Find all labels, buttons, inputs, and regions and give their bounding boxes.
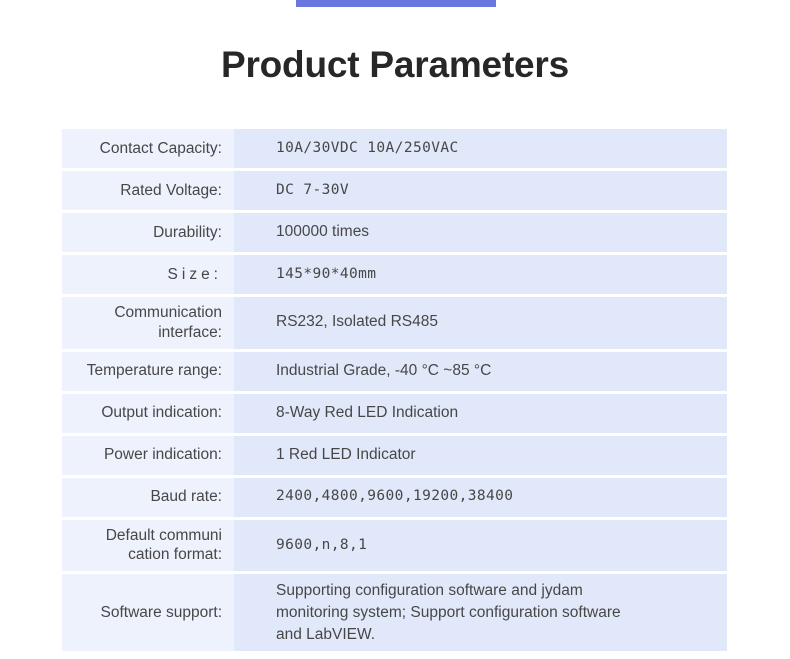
table-row: Default communi cation format: 9600,n,8,… bbox=[62, 520, 727, 572]
row-label: Default communi cation format: bbox=[62, 520, 234, 572]
table-row: Power indication: 1 Red LED Indicator bbox=[62, 436, 727, 475]
table-row: Rated Voltage: DC 7-30V bbox=[62, 171, 727, 210]
row-label: Power indication: bbox=[62, 436, 234, 475]
row-value: DC 7-30V bbox=[234, 171, 727, 210]
row-value: 145*90*40mm bbox=[234, 255, 727, 294]
table-row: Contact Capacity: 10A/30VDC 10A/250VAC bbox=[62, 129, 727, 168]
row-value: 9600,n,8,1 bbox=[234, 520, 727, 572]
row-value: RS232, Isolated RS485 bbox=[234, 297, 727, 349]
row-value: 1 Red LED Indicator bbox=[234, 436, 727, 475]
row-label: Software support: bbox=[62, 574, 234, 651]
table-row: Output indication: 8-Way Red LED Indicat… bbox=[62, 394, 727, 433]
row-label: Output indication: bbox=[62, 394, 234, 433]
row-label: Contact Capacity: bbox=[62, 129, 234, 168]
page-title: Product Parameters bbox=[0, 7, 790, 85]
top-accent-bar bbox=[296, 0, 496, 7]
row-label: Communication interface: bbox=[62, 297, 234, 349]
table-row: Temperature range: Industrial Grade, -40… bbox=[62, 352, 727, 391]
accent-bar-container bbox=[0, 0, 790, 7]
row-value: 10A/30VDC 10A/250VAC bbox=[234, 129, 727, 168]
row-label: Durability: bbox=[62, 213, 234, 252]
table-row: Software support: Supporting configurati… bbox=[62, 574, 727, 651]
table-row: Size: 145*90*40mm bbox=[62, 255, 727, 294]
row-value: Industrial Grade, -40 °C ~85 °C bbox=[234, 352, 727, 391]
row-value: Supporting configuration software and jy… bbox=[234, 574, 727, 651]
row-value: 100000 times bbox=[234, 213, 727, 252]
table-row: Baud rate: 2400,4800,9600,19200,38400 bbox=[62, 478, 727, 517]
row-label: Size: bbox=[62, 255, 234, 294]
table-row: Communication interface: RS232, Isolated… bbox=[62, 297, 727, 349]
row-label: Temperature range: bbox=[62, 352, 234, 391]
product-parameters-table: Contact Capacity: 10A/30VDC 10A/250VAC R… bbox=[62, 129, 727, 654]
row-value: 8-Way Red LED Indication bbox=[234, 394, 727, 433]
row-label: Baud rate: bbox=[62, 478, 234, 517]
table-row: Durability: 100000 times bbox=[62, 213, 727, 252]
row-value: 2400,4800,9600,19200,38400 bbox=[234, 478, 727, 517]
row-label: Rated Voltage: bbox=[62, 171, 234, 210]
